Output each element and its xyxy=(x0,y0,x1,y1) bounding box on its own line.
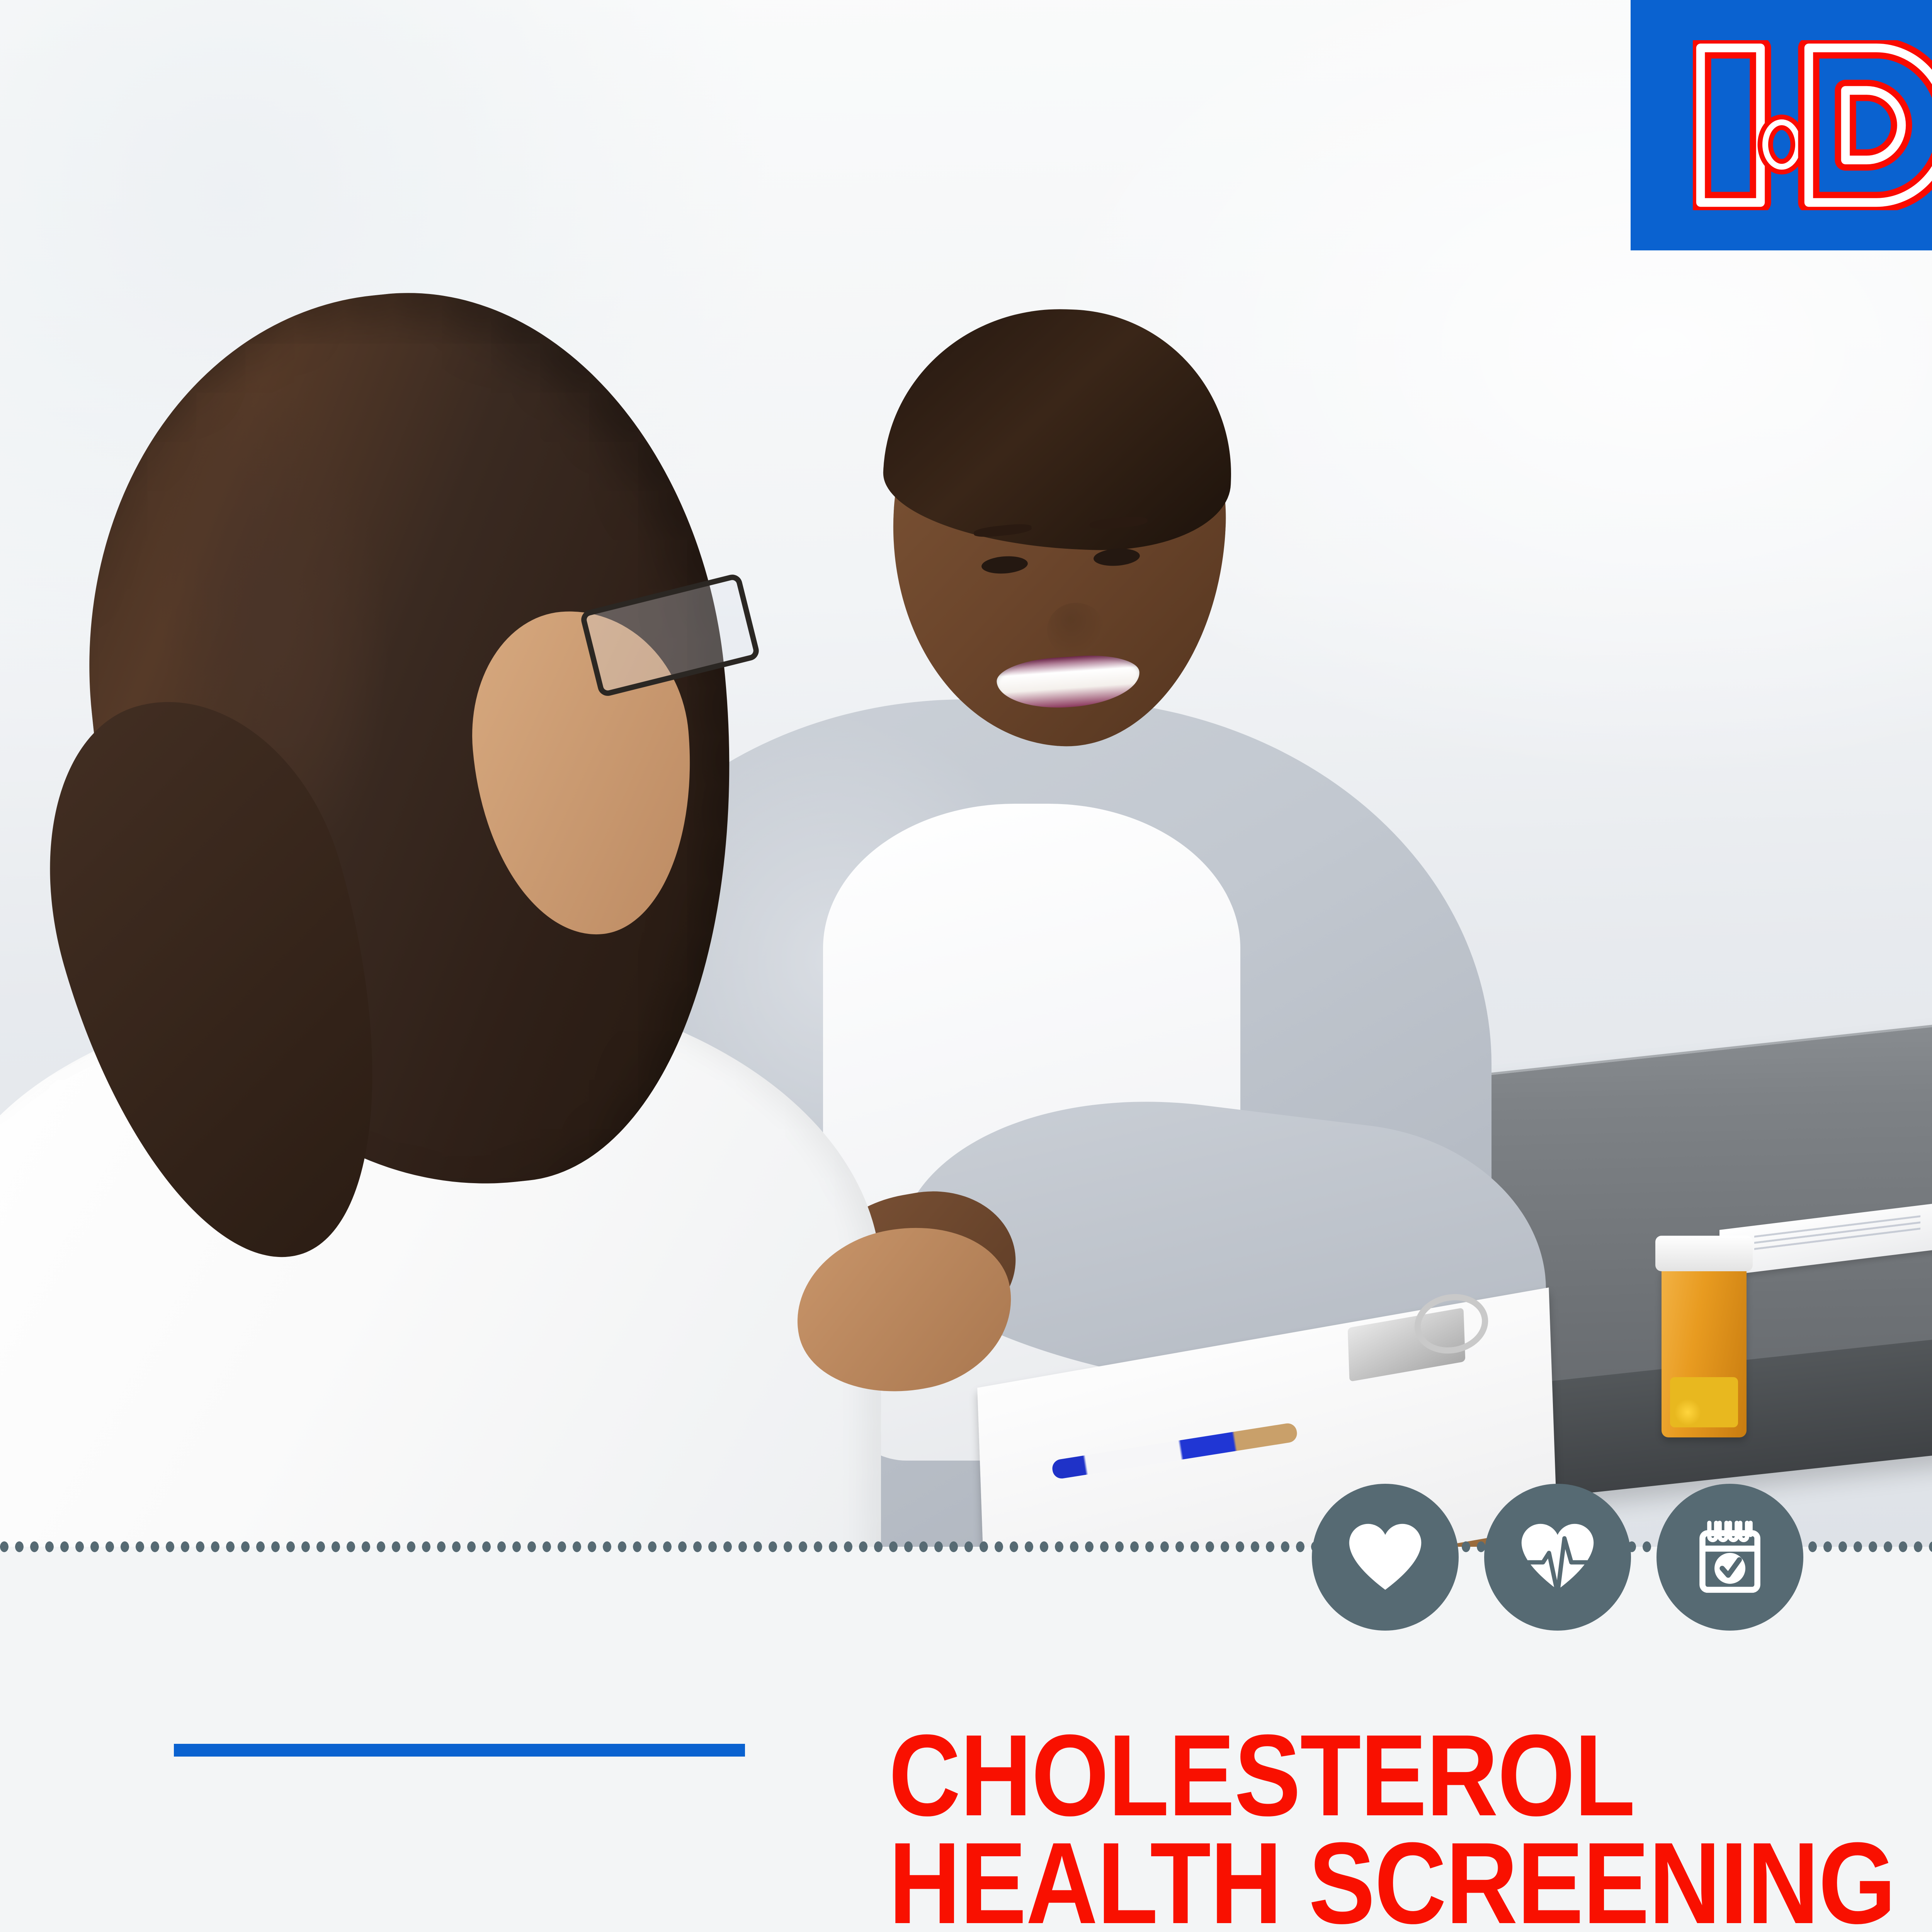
pill-bottle xyxy=(1662,1264,1747,1437)
page-title: CHOLESTEROL HEALTH SCREENING EVENT xyxy=(889,1721,1932,1932)
icon-badge-row xyxy=(1312,1484,1803,1631)
heart-icon xyxy=(1349,1524,1421,1590)
decorative-rule-top xyxy=(174,1744,745,1757)
badge-calendar-check[interactable] xyxy=(1656,1484,1803,1631)
patient-nose xyxy=(1047,603,1105,657)
badge-heart[interactable] xyxy=(1312,1484,1459,1631)
poster-canvas: R xyxy=(0,0,1932,1932)
calendar-check-icon xyxy=(1702,1523,1757,1590)
ida-logo[interactable]: R xyxy=(1631,0,1932,250)
badge-heart-pulse[interactable] xyxy=(1484,1484,1631,1631)
